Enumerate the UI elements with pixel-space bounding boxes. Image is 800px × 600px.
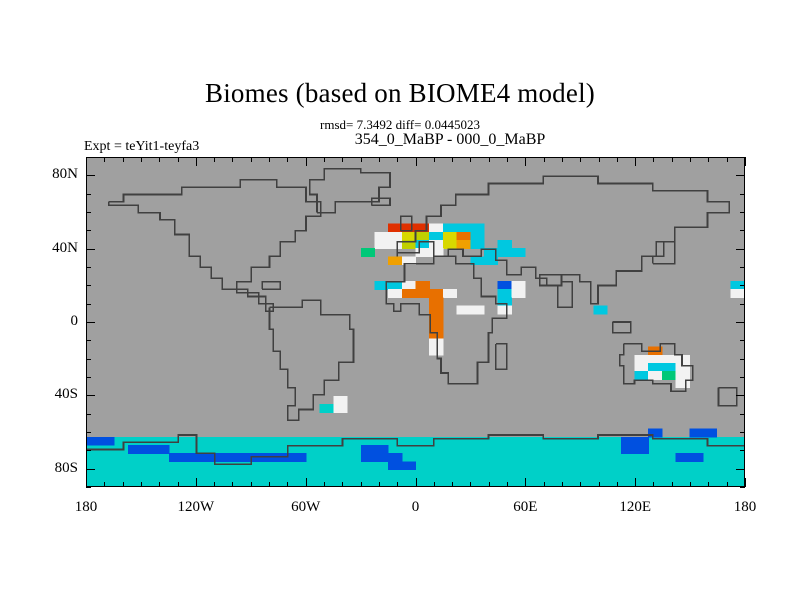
x-minor-tick: [269, 482, 270, 487]
y-minor-tick-right: [740, 414, 745, 415]
x-minor-tick-top: [342, 157, 343, 162]
biome-map-canvas: [87, 158, 744, 486]
biome-cell: [443, 289, 457, 298]
biome-cell: [333, 404, 347, 413]
x-minor-tick-top: [123, 157, 124, 162]
biome-cell: [498, 297, 512, 306]
y-major-tick-right: [736, 249, 745, 250]
x-minor-tick: [544, 482, 545, 487]
x-minor-tick: [617, 482, 618, 487]
biome-cell: [429, 224, 443, 233]
biome-cell: [374, 240, 388, 249]
x-minor-tick-top: [690, 157, 691, 162]
biome-cell: [361, 445, 375, 454]
biome-cell: [238, 453, 252, 462]
biome-cell: [457, 240, 471, 249]
y-major-tick-right: [736, 322, 745, 323]
x-minor-tick-top: [269, 157, 270, 162]
x-minor-tick: [342, 482, 343, 487]
y-minor-tick: [86, 194, 91, 195]
x-minor-tick: [141, 482, 142, 487]
y-minor-tick: [86, 157, 91, 158]
y-minor-tick: [86, 359, 91, 360]
coastline-layer: [87, 169, 744, 464]
biome-cell: [429, 330, 443, 339]
x-minor-tick: [727, 482, 728, 487]
y-major-tick: [86, 469, 95, 470]
x-axis-label: 0: [386, 499, 446, 516]
biome-cell: [511, 281, 525, 290]
x-minor-tick: [690, 482, 691, 487]
x-minor-tick-top: [232, 157, 233, 162]
y-minor-tick-right: [740, 267, 745, 268]
x-major-tick-top: [745, 157, 746, 166]
biome-cell: [470, 306, 484, 315]
y-minor-tick: [86, 212, 91, 213]
x-minor-tick: [324, 482, 325, 487]
x-axis-label: 180: [56, 499, 116, 516]
x-minor-tick: [123, 482, 124, 487]
biome-cell: [498, 289, 512, 298]
y-minor-tick: [86, 285, 91, 286]
coastline-path: [386, 256, 506, 384]
x-minor-tick-top: [104, 157, 105, 162]
x-minor-tick-top: [562, 157, 563, 162]
biome-cell: [662, 363, 676, 372]
x-minor-tick: [104, 482, 105, 487]
x-minor-tick-top: [397, 157, 398, 162]
y-minor-tick-right: [740, 194, 745, 195]
experiment-annotation: Expt = teYit1-teyfa3: [84, 138, 199, 155]
x-minor-tick-top: [653, 157, 654, 162]
biome-cell: [183, 453, 197, 462]
y-axis-label: 80S: [32, 460, 78, 477]
x-minor-tick: [470, 482, 471, 487]
biome-cell: [388, 453, 402, 462]
y-minor-tick-right: [740, 340, 745, 341]
biome-cell: [388, 256, 402, 265]
biome-cell: [443, 232, 457, 241]
biome-cell: [676, 371, 690, 380]
biome-cell: [416, 281, 430, 290]
x-minor-tick: [214, 482, 215, 487]
biome-cell: [443, 240, 457, 249]
y-minor-tick: [86, 267, 91, 268]
x-minor-tick: [507, 482, 508, 487]
biome-cell: [429, 297, 443, 306]
y-minor-tick: [86, 340, 91, 341]
biome-cell: [457, 232, 471, 241]
biome-cell: [197, 453, 211, 462]
biome-cell: [635, 445, 649, 454]
x-axis-label: 120W: [166, 499, 226, 516]
x-minor-tick-top: [617, 157, 618, 162]
biome-cell: [388, 461, 402, 470]
y-minor-tick: [86, 230, 91, 231]
biome-cell: [333, 396, 347, 405]
y-minor-tick: [86, 487, 91, 488]
x-minor-tick-top: [544, 157, 545, 162]
x-minor-tick: [653, 482, 654, 487]
biome-cell: [210, 453, 224, 462]
x-minor-tick-top: [324, 157, 325, 162]
biome-cell: [292, 453, 306, 462]
y-minor-tick: [86, 304, 91, 305]
x-minor-tick-top: [178, 157, 179, 162]
y-minor-tick-right: [740, 487, 745, 488]
biome-cell: [443, 224, 457, 233]
x-minor-tick-top: [434, 157, 435, 162]
x-minor-tick: [379, 482, 380, 487]
x-major-tick-top: [196, 157, 197, 166]
biome-cell: [361, 453, 375, 462]
biome-cell: [635, 371, 649, 380]
y-minor-tick-right: [740, 450, 745, 451]
biome-cell: [402, 461, 416, 470]
biome-cell: [224, 453, 238, 462]
biome-cell: [429, 314, 443, 323]
x-minor-tick-top: [599, 157, 600, 162]
biome-cell: [703, 429, 717, 438]
x-major-tick: [745, 478, 746, 487]
x-minor-tick: [251, 482, 252, 487]
x-minor-tick: [562, 482, 563, 487]
coastline-path: [613, 322, 631, 333]
biome-cell: [429, 347, 443, 356]
x-major-tick-top: [86, 157, 87, 166]
x-minor-tick-top: [141, 157, 142, 162]
x-minor-tick: [599, 482, 600, 487]
y-minor-tick: [86, 450, 91, 451]
x-minor-tick: [452, 482, 453, 487]
x-minor-tick-top: [580, 157, 581, 162]
biome-cell: [662, 371, 676, 380]
x-axis-label: 60E: [495, 499, 555, 516]
coastline-path: [262, 282, 280, 289]
y-minor-tick-right: [740, 230, 745, 231]
biome-cell: [374, 232, 388, 241]
biome-cell: [730, 289, 744, 298]
biome-cell: [457, 224, 471, 233]
x-minor-tick-top: [379, 157, 380, 162]
x-major-tick-top: [306, 157, 307, 166]
x-axis-label: 180: [715, 499, 775, 516]
y-axis-label: 40N: [32, 240, 78, 257]
x-major-tick: [196, 478, 197, 487]
biome-cell: [498, 281, 512, 290]
y-major-tick-right: [736, 395, 745, 396]
y-minor-tick: [86, 414, 91, 415]
biome-cell: [648, 363, 662, 372]
coastline-path: [718, 388, 736, 406]
x-major-tick-top: [525, 157, 526, 166]
y-major-tick-right: [736, 469, 745, 470]
x-minor-tick: [672, 482, 673, 487]
biome-cell: [470, 232, 484, 241]
biome-cell: [416, 232, 430, 241]
biome-cell: [374, 445, 388, 454]
x-axis-label: 60W: [276, 499, 336, 516]
biome-cell: [635, 355, 649, 364]
x-minor-tick: [287, 482, 288, 487]
biome-cell: [114, 437, 128, 446]
y-minor-tick-right: [740, 304, 745, 305]
x-major-tick: [416, 478, 417, 487]
y-major-tick: [86, 175, 95, 176]
y-minor-tick: [86, 432, 91, 433]
x-minor-tick-top: [672, 157, 673, 162]
biome-cell: [635, 437, 649, 446]
x-major-tick-top: [635, 157, 636, 166]
biome-cell: [470, 240, 484, 249]
biome-cell: [593, 306, 607, 315]
x-minor-tick: [434, 482, 435, 487]
biome-cell: [648, 355, 662, 364]
biome-cell: [87, 437, 101, 446]
biome-cell: [402, 289, 416, 298]
biome-cell: [648, 371, 662, 380]
y-minor-tick-right: [740, 285, 745, 286]
x-minor-tick: [178, 482, 179, 487]
x-major-tick-top: [416, 157, 417, 166]
biome-cell: [388, 289, 402, 298]
biome-cell: [374, 453, 388, 462]
biome-cell: [689, 453, 703, 462]
y-minor-tick-right: [740, 212, 745, 213]
y-minor-tick-right: [740, 157, 745, 158]
coastline-path: [496, 344, 507, 370]
y-major-tick: [86, 395, 95, 396]
x-minor-tick-top: [470, 157, 471, 162]
coastline-path: [540, 275, 573, 308]
biome-cell: [511, 289, 525, 298]
biome-cell: [457, 306, 471, 315]
biome-cell: [621, 437, 635, 446]
x-minor-tick-top: [507, 157, 508, 162]
y-major-tick-right: [736, 175, 745, 176]
biome-cell: [101, 437, 115, 446]
x-minor-tick-top: [159, 157, 160, 162]
x-minor-tick-top: [214, 157, 215, 162]
x-major-tick: [525, 478, 526, 487]
biome-cell: [498, 240, 512, 249]
biome-cell: [416, 289, 430, 298]
x-minor-tick-top: [727, 157, 728, 162]
x-major-tick: [306, 478, 307, 487]
biome-cell: [128, 445, 142, 454]
x-axis-label: 120E: [605, 499, 665, 516]
biome-cell: [169, 453, 183, 462]
x-minor-tick: [397, 482, 398, 487]
biome-cell: [676, 453, 690, 462]
biome-cell: [155, 445, 169, 454]
map-plot-area: [86, 157, 745, 487]
y-axis-label: 80N: [32, 166, 78, 183]
y-minor-tick: [86, 377, 91, 378]
x-minor-tick-top: [489, 157, 490, 162]
biome-cell: [429, 322, 443, 331]
x-minor-tick: [708, 482, 709, 487]
y-minor-tick-right: [740, 377, 745, 378]
x-minor-tick-top: [361, 157, 362, 162]
biome-cell: [511, 248, 525, 257]
page-title: Biomes (based on BIOME4 model): [0, 78, 800, 108]
y-major-tick: [86, 249, 95, 250]
biome-cell: [402, 232, 416, 241]
y-axis-label: 40S: [32, 386, 78, 403]
y-axis-label: 0: [32, 313, 78, 330]
period-annotation: 354_0_MaBP - 000_0_MaBP: [240, 130, 660, 149]
coastline-path: [109, 180, 321, 311]
biome-cell: [635, 363, 649, 372]
x-minor-tick: [159, 482, 160, 487]
x-minor-tick-top: [708, 157, 709, 162]
biome-cell: [320, 404, 334, 413]
biome-cell: [470, 224, 484, 233]
biome-cell: [388, 232, 402, 241]
y-minor-tick-right: [740, 432, 745, 433]
x-minor-tick-top: [251, 157, 252, 162]
biome-cell: [648, 429, 662, 438]
biome-cell: [142, 445, 156, 454]
x-major-tick: [635, 478, 636, 487]
biome-cell: [429, 306, 443, 315]
x-minor-tick-top: [287, 157, 288, 162]
y-major-tick: [86, 322, 95, 323]
x-minor-tick: [232, 482, 233, 487]
x-minor-tick: [489, 482, 490, 487]
x-minor-tick-top: [452, 157, 453, 162]
x-major-tick: [86, 478, 87, 487]
biome-cell: [621, 445, 635, 454]
biome-cell: [429, 232, 443, 241]
biome-cell: [689, 429, 703, 438]
biome-cell: [662, 355, 676, 364]
biome-cell: [361, 248, 375, 257]
y-minor-tick-right: [740, 359, 745, 360]
biome-cell: [498, 248, 512, 257]
biome-cell: [429, 338, 443, 347]
x-minor-tick: [580, 482, 581, 487]
biome-cell: [429, 289, 443, 298]
x-minor-tick: [361, 482, 362, 487]
biome-cell: [498, 306, 512, 315]
